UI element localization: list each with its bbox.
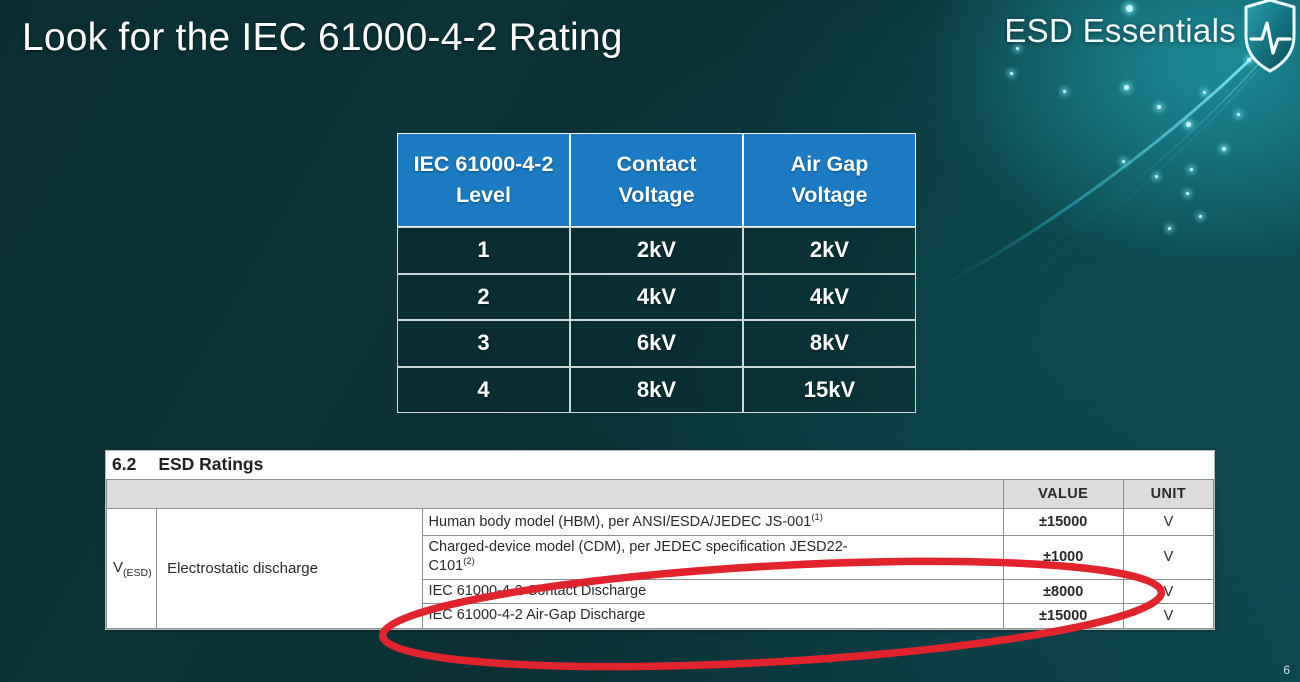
column-header-air-gap-voltage: Air Gap Voltage [743,133,916,227]
cell-level: 3 [397,320,570,367]
cell-contact: 8kV [570,367,743,414]
cell-level: 4 [397,367,570,414]
sparkle-particle [1190,168,1193,171]
condition-text: Human body model (HBM), per ANSI/ESDA/JE… [429,514,812,530]
cell-level: 1 [397,227,570,274]
cell-unit: V [1123,579,1213,604]
table-row: 3 6kV 8kV [397,320,916,367]
sparkle-particle [1063,90,1066,93]
cell-parameter: Electrostatic discharge [157,509,422,629]
sparkle-particle [1010,72,1013,75]
condition-text-line2: C101 [429,558,464,574]
datasheet-excerpt: 6.2 ESD Ratings VALUE UNIT V(ESD) Elec [105,450,1215,630]
brand-label: ESD Essentials [1004,12,1236,50]
sparkle-particle [1124,85,1129,90]
cell-airgap: 4kV [743,274,916,321]
sparkle-particle [1186,192,1189,195]
footnote-marker: (1) [811,512,823,523]
cell-contact: 6kV [570,320,743,367]
condition-text: Charged-device model (CDM), per JEDEC sp… [429,539,848,555]
sparkle-particle [1203,91,1206,94]
shield-pulse-icon [1242,0,1298,74]
table-row: 1 2kV 2kV [397,227,916,274]
cell-airgap: 2kV [743,227,916,274]
column-header-iec-level: IEC 61000-4-2 Level [397,133,570,227]
cell-condition: Charged-device model (CDM), per JEDEC sp… [422,535,1003,579]
table-row: 4 8kV 15kV [397,367,916,414]
iec-level-table: IEC 61000-4-2 Level Contact Voltage Air … [397,133,916,413]
sparkle-particle [1126,5,1133,12]
cell-unit: V [1123,509,1213,536]
sparkle-particle [1222,147,1226,151]
sparkle-particle [1155,175,1158,178]
table-row: 2 4kV 4kV [397,274,916,321]
cell-symbol: V(ESD) [107,509,157,629]
cell-condition: Human body model (HBM), per ANSI/ESDA/JE… [422,509,1003,536]
symbol-subscript: (ESD) [123,567,152,579]
page-number: 6 [1283,663,1290,677]
column-header-value: VALUE [1003,480,1123,509]
cell-value: ±15000 [1003,509,1123,536]
column-header-unit: UNIT [1123,480,1213,509]
table-row: V(ESD) Electrostatic discharge Human bod… [107,509,1214,536]
symbol-text: V [113,559,123,576]
header-line-1: IEC 61000-4-2 [414,152,554,176]
sparkle-particle [1186,122,1191,127]
header-line-1: Air Gap [791,152,869,176]
cell-level: 2 [397,274,570,321]
cell-unit: V [1123,604,1213,629]
header-line-1: Contact [616,152,696,176]
esd-ratings-table: VALUE UNIT V(ESD) Electrostatic discharg… [106,479,1214,629]
header-line-2: Level [456,183,511,207]
cell-unit: V [1123,535,1213,579]
section-number: 6.2 [112,454,136,475]
table-header-row: IEC 61000-4-2 Level Contact Voltage Air … [397,133,916,227]
sparkle-particle [1122,160,1125,163]
column-header-blank [107,480,1004,509]
cell-value: ±1000 [1003,535,1123,579]
sparkle-particle [1157,105,1161,109]
column-header-contact-voltage: Contact Voltage [570,133,743,227]
sparkle-particle [1237,113,1240,116]
cell-condition: IEC 61000-4-2 Air-Gap Discharge [422,604,1003,629]
header-line-2: Voltage [791,183,867,207]
cell-condition: IEC 61000-4-2 Contact Discharge [422,579,1003,604]
sparkle-particle [1168,227,1171,230]
page-title: Look for the IEC 61000-4-2 Rating [22,16,623,60]
cell-airgap: 15kV [743,367,916,414]
table-header-row: VALUE UNIT [107,480,1214,509]
section-title: ESD Ratings [158,454,263,475]
datasheet-section-heading: 6.2 ESD Ratings [106,451,1214,479]
cell-contact: 2kV [570,227,743,274]
cell-contact: 4kV [570,274,743,321]
cell-value: ±8000 [1003,579,1123,604]
cell-value: ±15000 [1003,604,1123,629]
footnote-marker: (2) [463,556,475,567]
cell-airgap: 8kV [743,320,916,367]
header-line-2: Voltage [618,183,694,207]
slide-canvas: Look for the IEC 61000-4-2 Rating ESD Es… [0,0,1300,682]
sparkle-particle [1199,215,1202,218]
